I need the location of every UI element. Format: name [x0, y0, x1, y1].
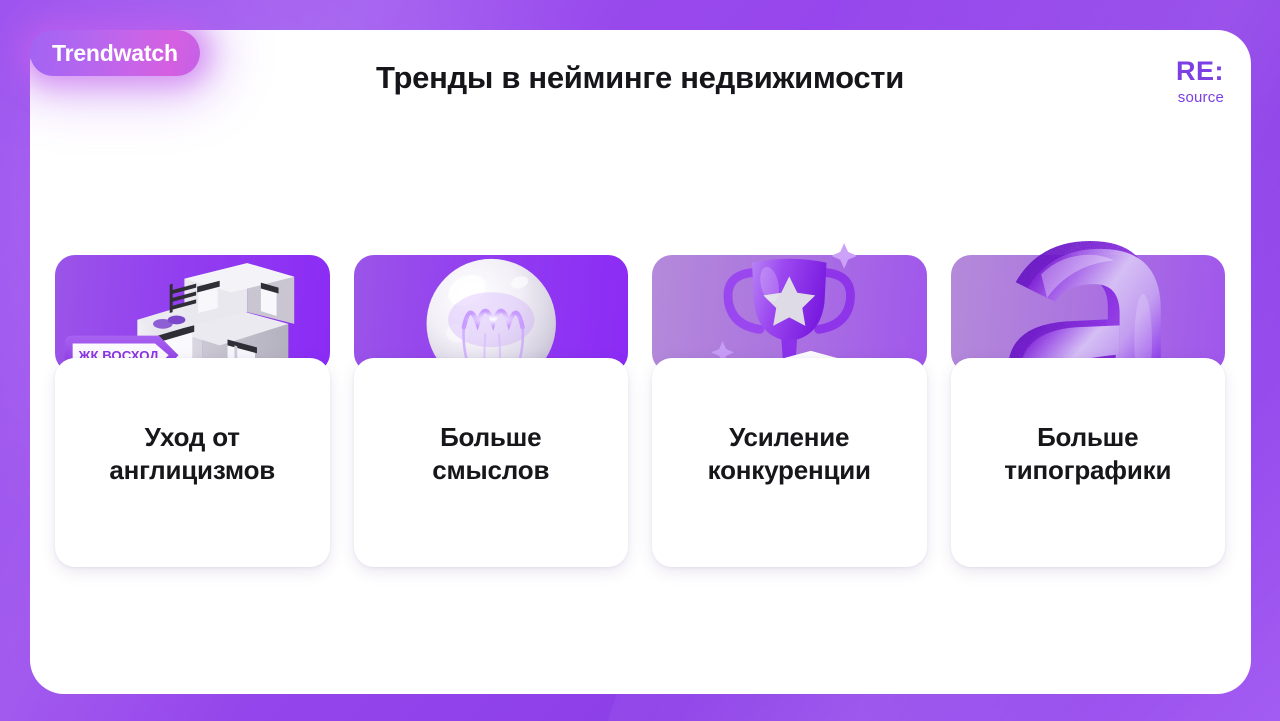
- trendwatch-badge[interactable]: Trendwatch: [30, 30, 200, 76]
- card-1-label: Уход от англицизмов: [109, 421, 275, 487]
- card-3-plate: [652, 255, 927, 373]
- card-2-plate: [354, 255, 629, 373]
- trend-card-4[interactable]: Больше типографики: [951, 255, 1226, 567]
- trend-card-2[interactable]: Больше смыслов: [354, 255, 629, 567]
- logo-sub-text: source: [1176, 90, 1224, 105]
- slide-canvas: Trendwatch Тренды в нейминге недвижимост…: [0, 0, 1280, 721]
- card-1-body: Уход от англицизмов: [55, 358, 330, 567]
- card-1-plate: [55, 255, 330, 373]
- trend-card-row: ЖК ВОСХОД Уход от англицизмов: [55, 255, 1225, 567]
- card-4-label: Больше типографики: [1004, 421, 1171, 487]
- logo-main-text: RE:: [1176, 58, 1224, 85]
- card-3-label: Усиление конкуренции: [708, 421, 871, 487]
- card-2-label: Больше смыслов: [432, 421, 549, 487]
- trend-card-1[interactable]: ЖК ВОСХОД Уход от англицизмов: [55, 255, 330, 567]
- resource-logo: RE: source: [1176, 58, 1224, 105]
- card-2-body: Больше смыслов: [354, 358, 629, 567]
- card-3-body: Усиление конкуренции: [652, 358, 927, 567]
- trend-card-3[interactable]: 3 1 2 Усиление конкуренции: [652, 255, 927, 567]
- card-4-body: Больше типографики: [951, 358, 1226, 567]
- card-4-plate: [951, 255, 1226, 373]
- trendwatch-badge-label: Trendwatch: [52, 40, 178, 67]
